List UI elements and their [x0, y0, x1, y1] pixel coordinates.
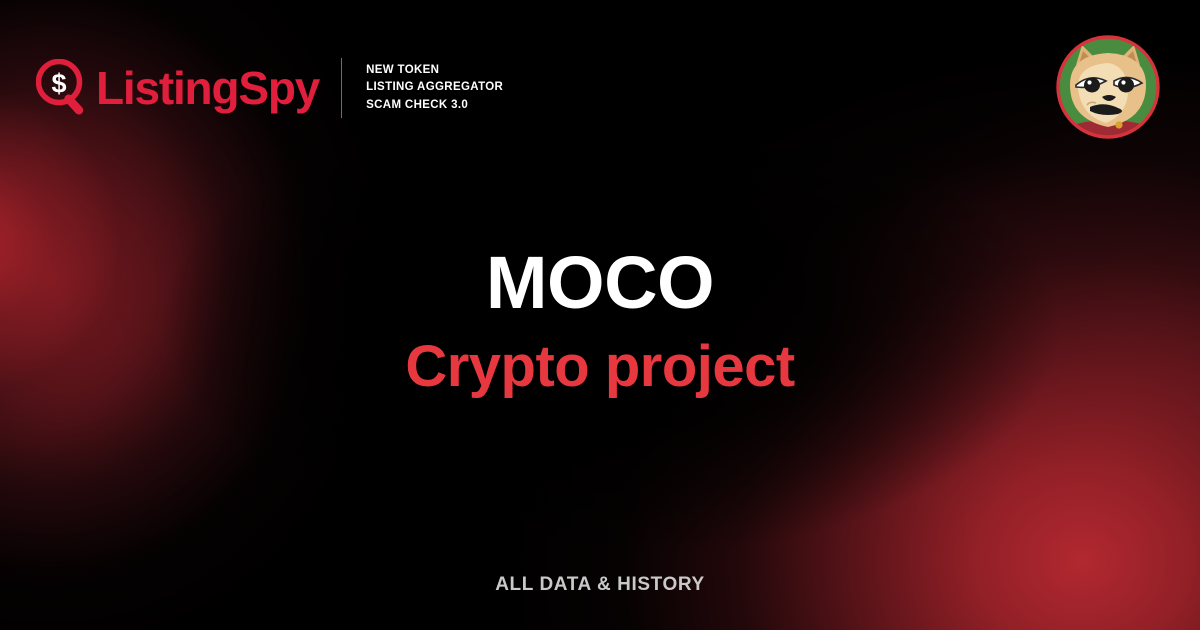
magnifier-dollar-icon: $	[36, 59, 96, 117]
brand-logo[interactable]: $ ListingSpy	[36, 59, 319, 117]
token-symbol: MOCO	[0, 246, 1200, 320]
header-divider	[341, 58, 342, 118]
tagline-line-2: LISTING AGGREGATOR	[366, 79, 503, 96]
tagline-line-1: NEW TOKEN	[366, 62, 503, 79]
brand-name: ListingSpy	[96, 65, 319, 111]
token-subtitle: Crypto project	[0, 338, 1200, 396]
doge-shiba-avatar[interactable]	[1056, 35, 1160, 139]
main-content: MOCO Crypto project	[0, 246, 1200, 396]
footer-note: ALL DATA & HISTORY	[0, 574, 1200, 596]
tagline-line-3: SCAM CHECK 3.0	[366, 97, 503, 114]
svg-text:$: $	[51, 69, 66, 99]
brand-tagline: NEW TOKEN LISTING AGGREGATOR SCAM CHECK …	[366, 62, 503, 113]
header: $ ListingSpy NEW TOKEN LISTING AGGREGATO…	[36, 58, 503, 118]
share-card: $ ListingSpy NEW TOKEN LISTING AGGREGATO…	[0, 0, 1200, 630]
